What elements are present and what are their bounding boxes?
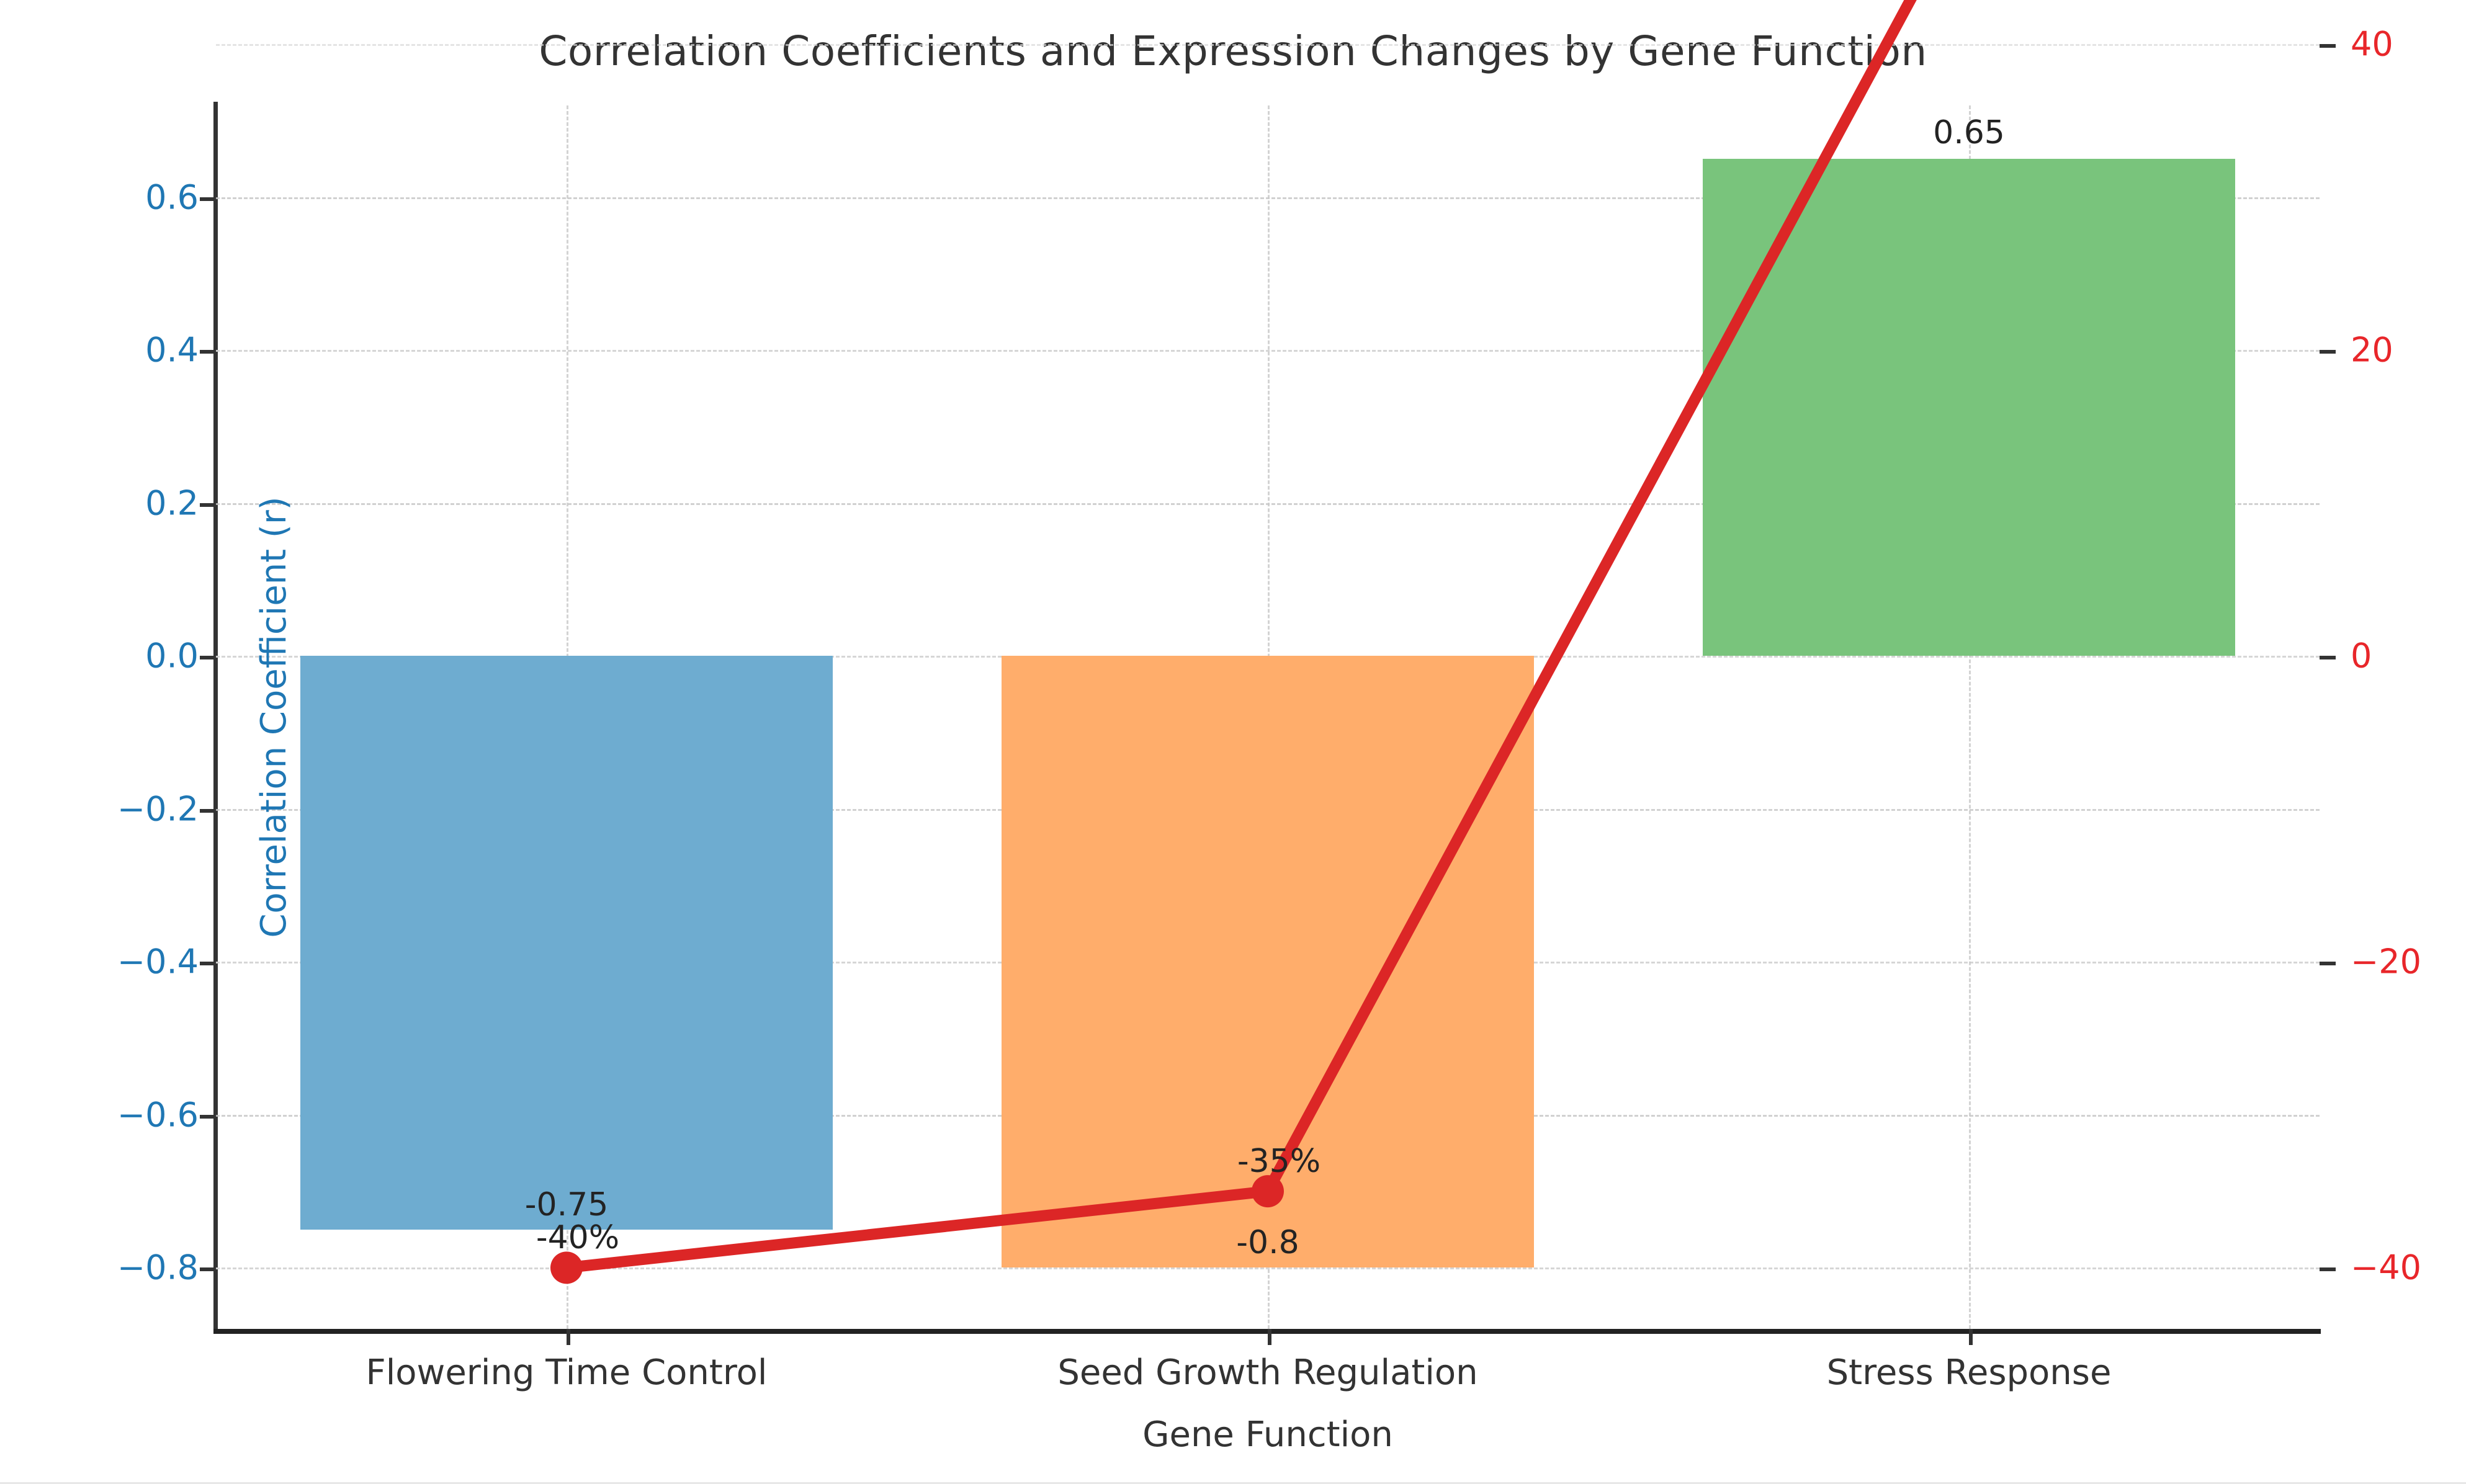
left-axis-tick-label: −0.6 <box>0 1095 199 1134</box>
chart-figure: Correlation Coefficients and Expression … <box>0 0 2466 1484</box>
x-axis-tick-label: Stress Response <box>1827 1352 2112 1393</box>
right-axis-tick-label: 0 <box>2351 637 2372 676</box>
bar-value-label: -0.75 <box>525 1186 609 1223</box>
right-axis-tick-label: −40 <box>2351 1248 2421 1287</box>
x-axis-title: Gene Function <box>216 1415 2320 1455</box>
line-value-label: -40% <box>536 1219 619 1256</box>
x-axis-tick <box>1268 1329 1271 1345</box>
left-axis-tick <box>200 656 216 659</box>
left-axis-tick <box>200 197 216 201</box>
right-axis-tick <box>2320 44 2336 48</box>
left-axis-tick <box>200 1115 216 1119</box>
bottom-axis-spine <box>213 1329 2321 1334</box>
x-axis-tick-label: Flowering Time Control <box>366 1352 768 1393</box>
left-axis-tick-label: −0.4 <box>0 942 199 981</box>
left-axis-tick <box>200 962 216 965</box>
x-axis-tick <box>1969 1329 1973 1345</box>
left-axis-tick-label: 0.0 <box>0 637 199 676</box>
right-axis-tick-label: 20 <box>2351 331 2393 370</box>
gridline-horizontal-secondary <box>216 44 2320 46</box>
left-axis-tick-label: 0.6 <box>0 177 199 217</box>
line-value-label: -35% <box>1237 1143 1320 1180</box>
right-axis-tick <box>2320 962 2336 965</box>
left-axis-tick-label: 0.4 <box>0 331 199 370</box>
right-axis-tick-label: −20 <box>2351 942 2421 981</box>
x-axis-tick <box>567 1329 570 1345</box>
plot-area: 0.60.40.20.0−0.2−0.4−0.6−0.8 40200−20−40… <box>216 105 2320 1329</box>
left-axis-title: Correlation Coefficient (r) <box>254 496 294 937</box>
left-axis-tick-label: 0.2 <box>0 483 199 522</box>
bar-value-label: 0.65 <box>1933 114 2005 151</box>
left-axis-tick <box>200 809 216 813</box>
left-axis-tick <box>200 350 216 354</box>
right-axis-tick <box>2320 656 2336 659</box>
right-axis-tick-label: 40 <box>2351 25 2393 64</box>
left-axis-tick-label: −0.2 <box>0 789 199 828</box>
right-axis-tick <box>2320 1267 2336 1271</box>
left-axis-tick <box>200 503 216 507</box>
chart-title: Correlation Coefficients and Expression … <box>0 27 2466 75</box>
right-axis-tick <box>2320 350 2336 354</box>
left-axis-tick <box>200 1267 216 1271</box>
bar-value-label: -0.8 <box>1236 1224 1299 1261</box>
x-axis-tick-label: Seed Growth Regulation <box>1057 1352 1477 1393</box>
left-axis-tick-label: −0.8 <box>0 1248 199 1287</box>
